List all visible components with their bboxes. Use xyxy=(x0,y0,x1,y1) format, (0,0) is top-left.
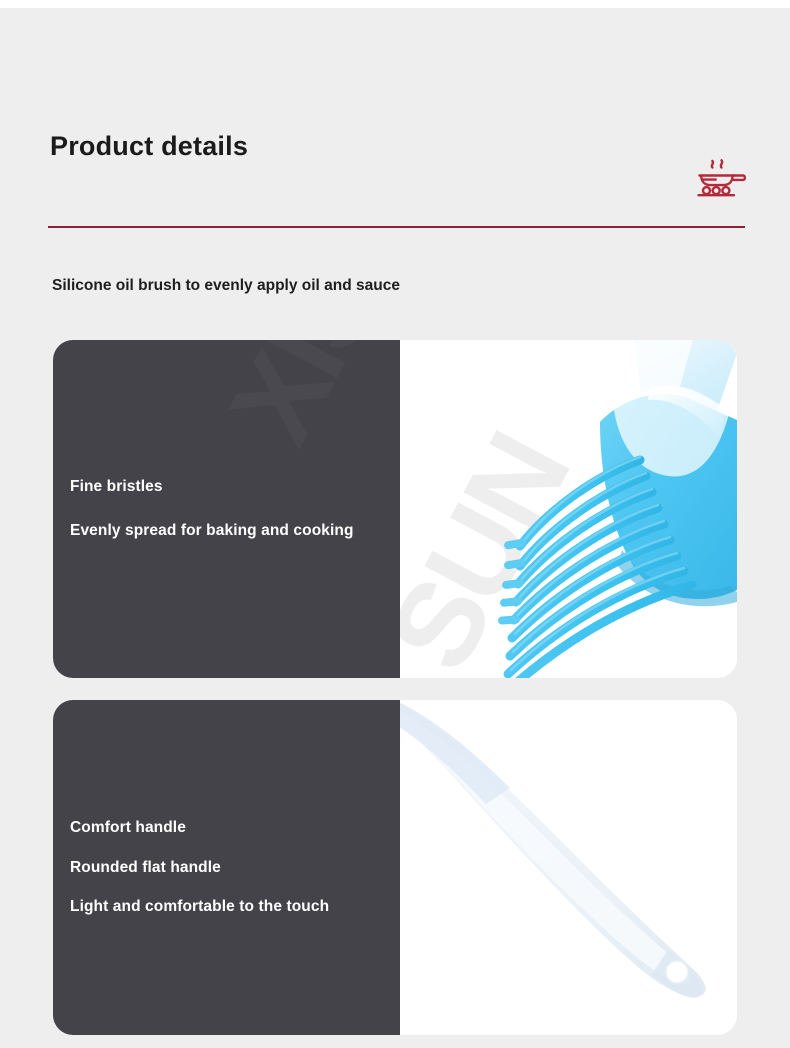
feature-line: Evenly spread for baking and cooking xyxy=(70,522,400,540)
watermark-text: XISUN xyxy=(203,340,400,464)
feature-card-fine-bristles: XISUN Fine bristles Evenly spread for ba… xyxy=(53,340,737,678)
blue-silicone-brush-head-photo: SUN xyxy=(400,340,737,678)
feature-card-comfort-handle: Comfort handle Rounded flat handle Light… xyxy=(53,700,737,1035)
feature-card-text-panel: Comfort handle Rounded flat handle Light… xyxy=(53,700,400,1035)
brush-illustration: SUN xyxy=(400,340,737,678)
header-divider-rule xyxy=(48,226,745,228)
translucent-white-brush-handle-photo xyxy=(400,700,737,1035)
feature-card-image-panel xyxy=(400,700,737,1035)
feature-line: Comfort handle xyxy=(70,819,400,837)
feature-card-image-panel: SUN xyxy=(400,340,737,678)
feature-line: Fine bristles xyxy=(70,478,400,496)
product-details-page: Product details xyxy=(0,0,790,1048)
page-title: Product details xyxy=(50,133,248,160)
handle-illustration xyxy=(400,700,737,1035)
frying-pan-with-steam-icon xyxy=(693,151,749,199)
feature-line: Light and comfortable to the touch xyxy=(70,898,400,916)
section-subtitle: Silicone oil brush to evenly apply oil a… xyxy=(52,277,400,296)
feature-card-text-panel: XISUN Fine bristles Evenly spread for ba… xyxy=(53,340,400,678)
feature-line: Rounded flat handle xyxy=(70,859,400,877)
top-white-strip xyxy=(0,0,790,8)
page-header: Product details xyxy=(0,8,790,220)
